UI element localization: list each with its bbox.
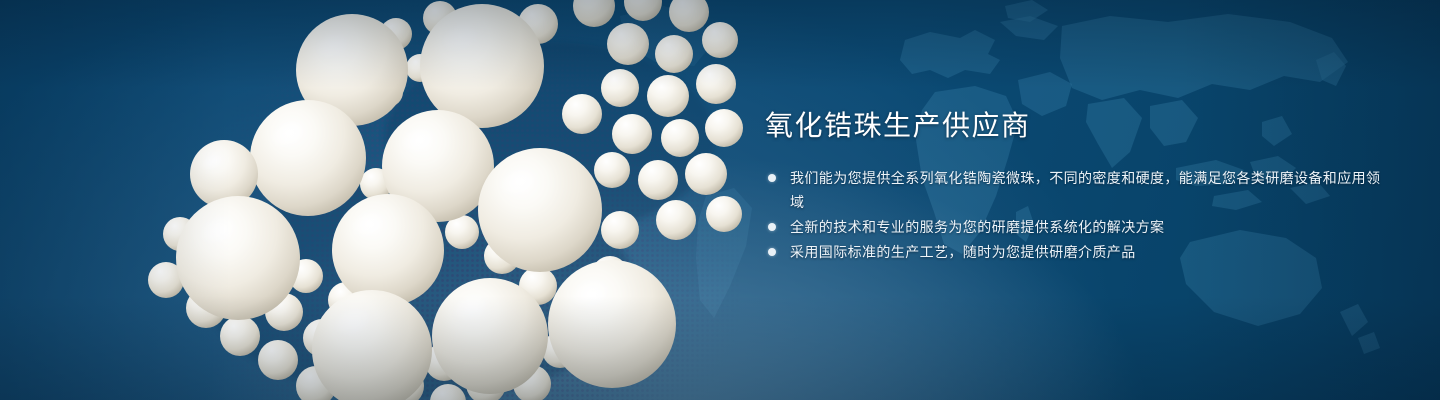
banner-copy: 氧化锆珠生产供应商 我们能为您提供全系列氧化锆陶瓷微珠，不同的密度和硬度，能满足… [765,108,1385,265]
banner-headline: 氧化锆珠生产供应商 [765,108,1385,144]
banner-bullet-list: 我们能为您提供全系列氧化锆陶瓷微珠，不同的密度和硬度，能满足您各类研磨设备和应用… [765,166,1385,264]
bullet-item-1: 我们能为您提供全系列氧化锆陶瓷微珠，不同的密度和硬度，能满足您各类研磨设备和应用… [765,166,1385,214]
bullet-dot-icon [768,223,776,231]
bullet-text: 采用国际标准的生产工艺，随时为您提供研磨介质产品 [790,244,1136,260]
bullet-text: 全新的技术和专业的服务为您的研磨提供系统化的解决方案 [790,219,1164,235]
bullet-dot-icon [768,248,776,256]
bullet-item-2: 全新的技术和专业的服务为您的研磨提供系统化的解决方案 [765,215,1385,239]
bullet-dot-icon [768,174,776,182]
bullet-item-3: 采用国际标准的生产工艺，随时为您提供研磨介质产品 [765,240,1385,264]
bullet-text: 我们能为您提供全系列氧化锆陶瓷微珠，不同的密度和硬度，能满足您各类研磨设备和应用… [790,170,1380,210]
hero-banner: 氧化锆珠生产供应商 我们能为您提供全系列氧化锆陶瓷微珠，不同的密度和硬度，能满足… [0,0,1440,400]
